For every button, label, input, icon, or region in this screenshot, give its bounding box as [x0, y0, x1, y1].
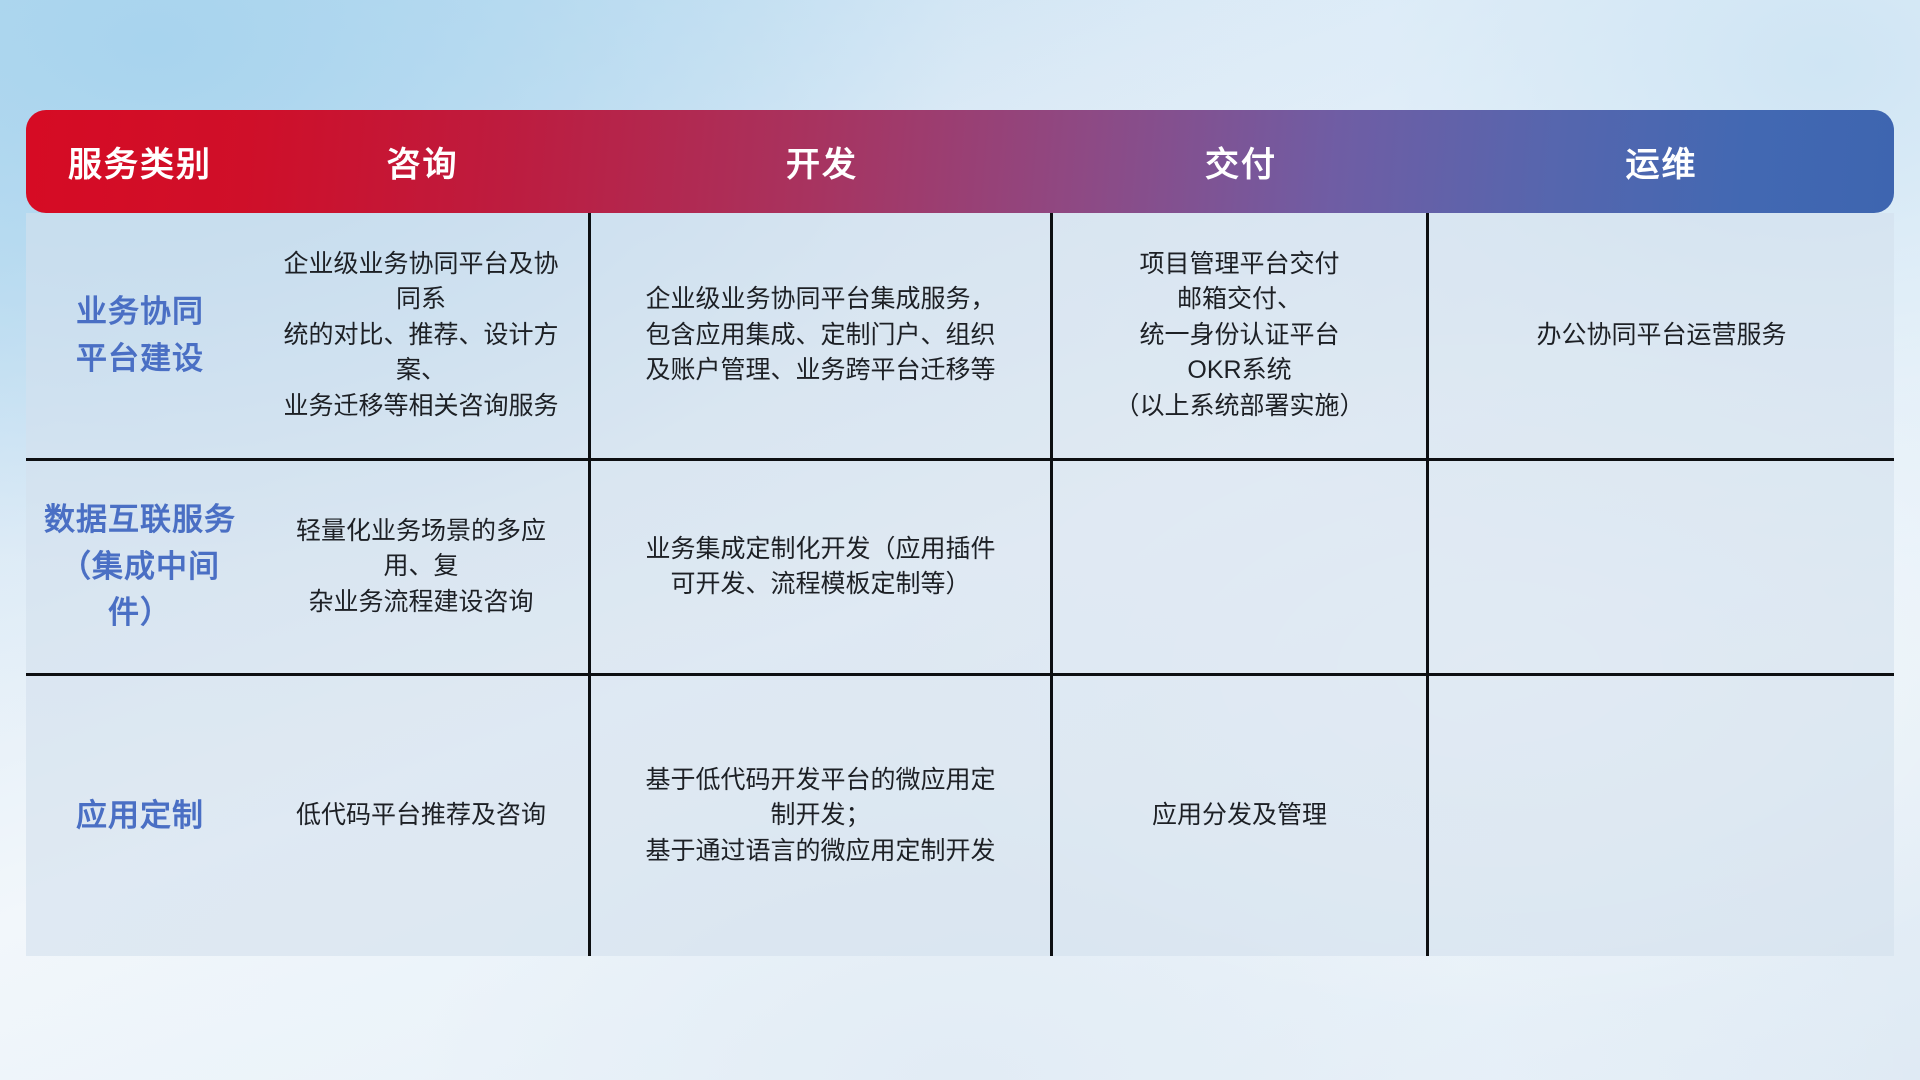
header-cell-operations[interactable]: 运维: [1429, 110, 1894, 213]
service-table: 服务类别 咨询 开发 交付 运维 业务协同 平台建设: [26, 110, 1894, 956]
cell-data-delivery: [1053, 461, 1429, 676]
table-row: 数据互联服务 （集成中间件） 轻量化业务场景的多应用、复 杂业务流程建设咨询 业…: [26, 461, 1894, 676]
header-row: 服务类别 咨询 开发 交付 运维: [26, 110, 1894, 213]
cell-text: 项目管理平台交付 邮箱交付、 统一身份认证平台 OKR系统 （以上系统部署实施）: [1071, 247, 1408, 425]
cell-business-development: 企业级业务协同平台集成服务， 包含应用集成、定制门户、组织 及账户管理、业务跨平…: [591, 213, 1053, 461]
header-label-development: 开发: [591, 137, 1053, 186]
row-label-business-collaboration: 业务协同 平台建设: [26, 213, 254, 461]
row-label-app-customization: 应用定制: [26, 676, 254, 956]
cell-app-consulting: 低代码平台推荐及咨询: [254, 676, 591, 956]
cell-text: 业务集成定制化开发（应用插件 可开发、流程模板定制等）: [609, 532, 1032, 603]
cell-text: 低代码平台推荐及咨询: [272, 798, 570, 834]
cell-app-development: 基于低代码开发平台的微应用定 制开发； 基于通过语言的微应用定制开发: [591, 676, 1053, 956]
cell-text: 企业级业务协同平台集成服务， 包含应用集成、定制门户、组织 及账户管理、业务跨平…: [609, 282, 1032, 389]
header-label-operations: 运维: [1429, 137, 1894, 186]
service-matrix-table: 服务类别 咨询 开发 交付 运维 业务协同 平台建设: [26, 110, 1894, 955]
cell-business-operations: 办公协同平台运营服务: [1429, 213, 1894, 461]
table-row: 应用定制 低代码平台推荐及咨询 基于低代码开发平台的微应用定 制开发； 基于通过…: [26, 676, 1894, 956]
table-header: 服务类别 咨询 开发 交付 运维: [26, 110, 1894, 213]
header-label-delivery: 交付: [1053, 137, 1429, 186]
header-label-category: 服务类别: [26, 137, 254, 186]
header-cell-development[interactable]: 开发: [591, 110, 1053, 213]
cell-text: 基于低代码开发平台的微应用定 制开发； 基于通过语言的微应用定制开发: [609, 763, 1032, 870]
cell-text: 应用分发及管理: [1071, 798, 1408, 834]
cell-app-operations: [1429, 676, 1894, 956]
cell-business-delivery: 项目管理平台交付 邮箱交付、 统一身份认证平台 OKR系统 （以上系统部署实施）: [1053, 213, 1429, 461]
header-cell-category[interactable]: 服务类别: [26, 110, 254, 213]
cell-data-operations: [1429, 461, 1894, 676]
cell-business-consulting: 企业级业务协同平台及协同系 统的对比、推荐、设计方案、 业务迁移等相关咨询服务: [254, 213, 591, 461]
cell-data-consulting: 轻量化业务场景的多应用、复 杂业务流程建设咨询: [254, 461, 591, 676]
cell-text: 轻量化业务场景的多应用、复 杂业务流程建设咨询: [272, 514, 570, 621]
cell-app-delivery: 应用分发及管理: [1053, 676, 1429, 956]
row-label-text: 业务协同 平台建设: [44, 289, 236, 382]
cell-text: 企业级业务协同平台及协同系 统的对比、推荐、设计方案、 业务迁移等相关咨询服务: [272, 247, 570, 425]
row-label-text: 数据互联服务 （集成中间件）: [44, 497, 236, 637]
header-cell-consulting[interactable]: 咨询: [254, 110, 591, 213]
table-row: 业务协同 平台建设 企业级业务协同平台及协同系 统的对比、推荐、设计方案、 业务…: [26, 213, 1894, 461]
cell-data-development: 业务集成定制化开发（应用插件 可开发、流程模板定制等）: [591, 461, 1053, 676]
row-label-text: 应用定制: [44, 793, 236, 840]
table-body: 业务协同 平台建设 企业级业务协同平台及协同系 统的对比、推荐、设计方案、 业务…: [26, 213, 1894, 956]
row-label-data-interconnect: 数据互联服务 （集成中间件）: [26, 461, 254, 676]
header-cell-delivery[interactable]: 交付: [1053, 110, 1429, 213]
cell-text: 办公协同平台运营服务: [1447, 318, 1876, 354]
header-label-consulting: 咨询: [254, 137, 591, 186]
